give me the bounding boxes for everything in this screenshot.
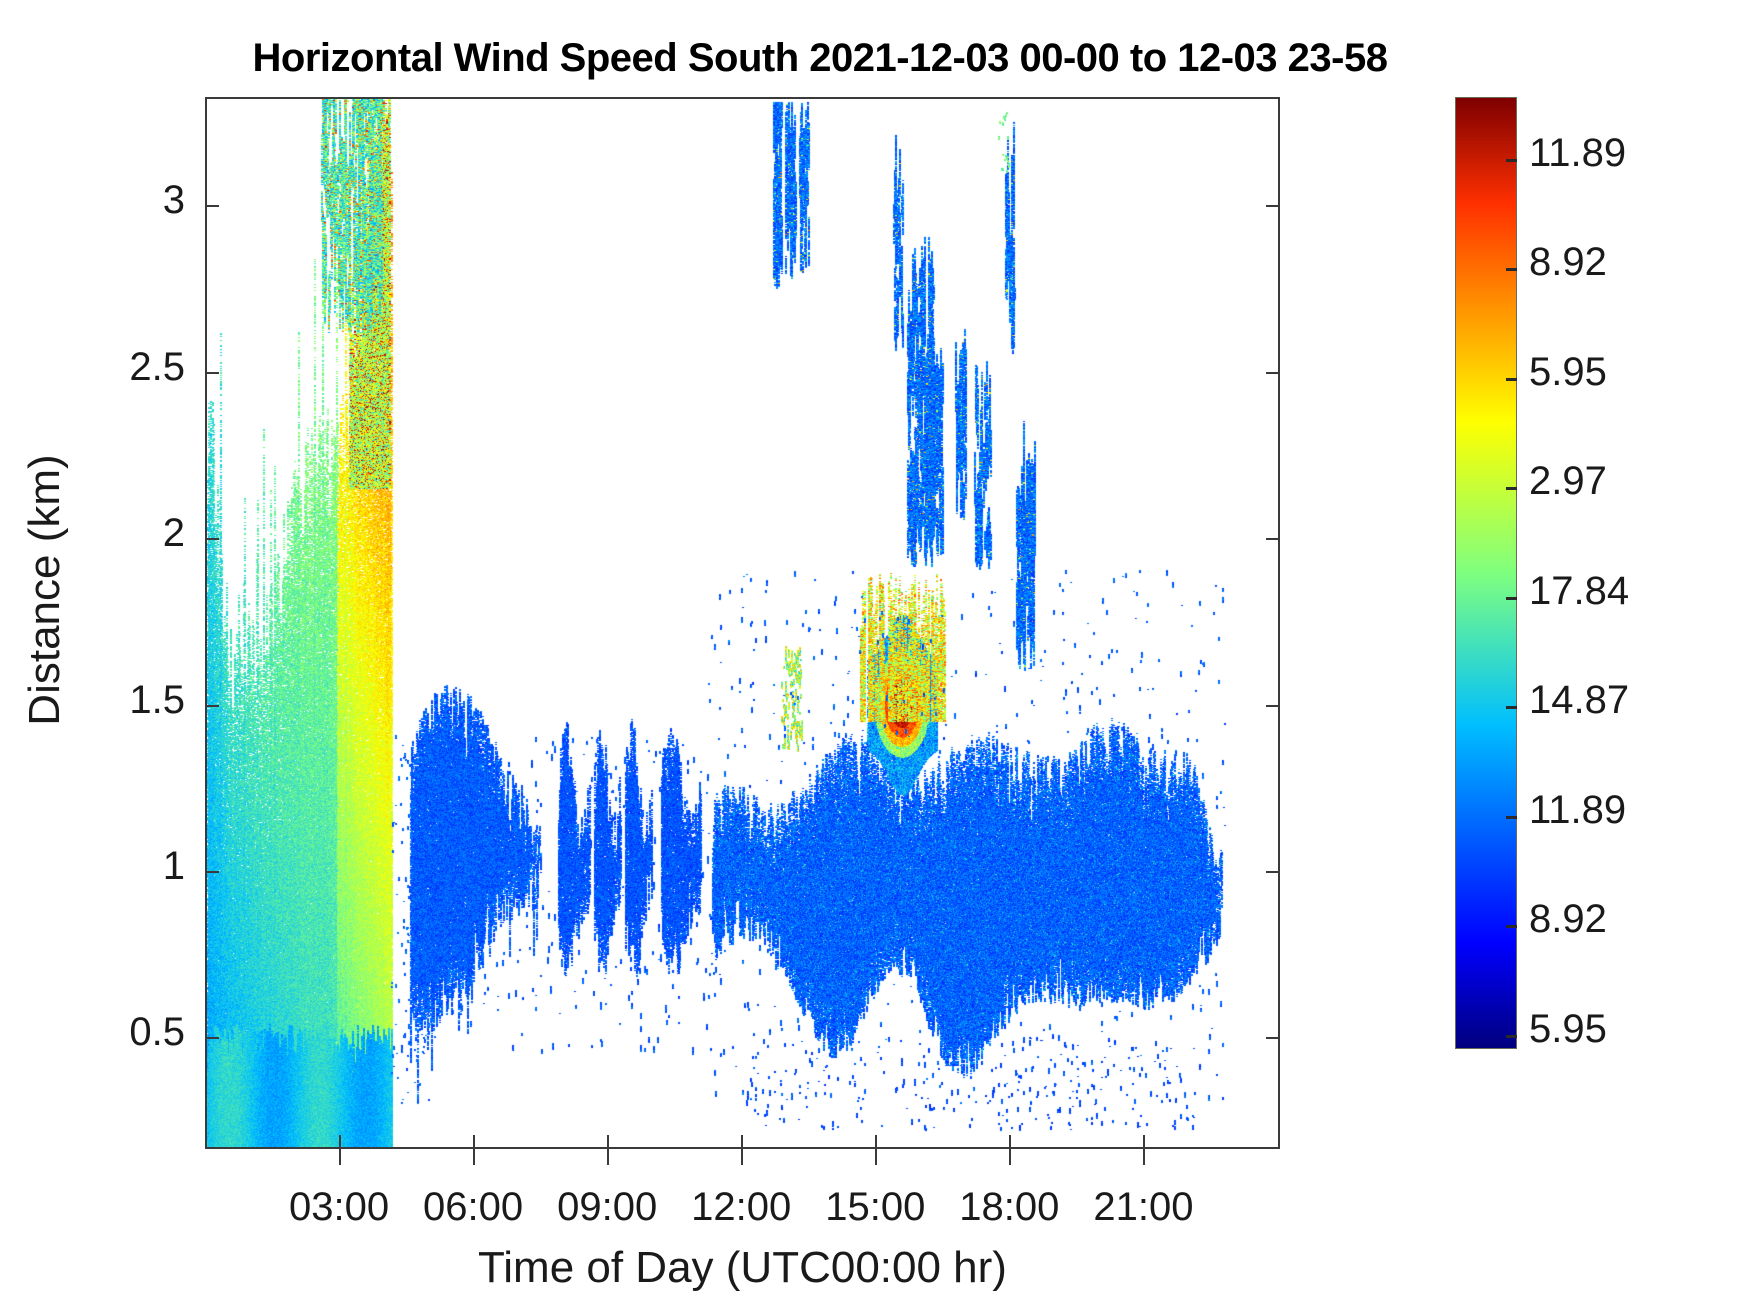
colorbar-tick-label: 5.95 bbox=[1529, 350, 1607, 395]
colorbar-tick-mark bbox=[1506, 378, 1517, 381]
y-tick-mark-right bbox=[1266, 372, 1280, 374]
chart-title: Horizontal Wind Speed South 2021-12-03 0… bbox=[0, 36, 1640, 81]
colorbar-tick-label: 8.92 bbox=[1529, 897, 1607, 942]
colorbar-tick-mark bbox=[1506, 159, 1517, 162]
colorbar-tick-mark bbox=[1506, 706, 1517, 709]
x-tick-mark bbox=[1143, 1135, 1145, 1149]
y-tick-mark bbox=[205, 372, 219, 374]
x-tick-mark bbox=[473, 1135, 475, 1149]
x-tick-mark bbox=[339, 1135, 341, 1149]
y-tick-mark-right bbox=[1266, 705, 1280, 707]
y-tick-mark-right bbox=[1266, 538, 1280, 540]
y-tick-mark-right bbox=[1266, 1037, 1280, 1039]
colorbar-gradient bbox=[1455, 97, 1517, 1049]
colorbar-tick-label: 2.97 bbox=[1529, 459, 1607, 504]
colorbar-tick-mark bbox=[1506, 487, 1517, 490]
y-tick-label: 3 bbox=[15, 178, 185, 223]
x-axis-label: Time of Day (UTC00:00 hr) bbox=[205, 1243, 1280, 1293]
colorbar-tick-label: 14.87 bbox=[1529, 678, 1629, 723]
colorbar-tick-label: 11.89 bbox=[1529, 131, 1626, 176]
x-tick-mark-outer bbox=[473, 1149, 475, 1165]
x-tick-mark bbox=[1009, 1135, 1011, 1149]
x-tick-mark-outer bbox=[607, 1149, 609, 1165]
heatmap-canvas bbox=[207, 99, 1278, 1147]
y-tick-mark bbox=[205, 1037, 219, 1039]
y-tick-mark-right bbox=[1266, 205, 1280, 207]
x-tick-mark-outer bbox=[1143, 1149, 1145, 1165]
colorbar-tick-mark bbox=[1506, 816, 1517, 819]
y-tick-mark-right bbox=[1266, 871, 1280, 873]
y-tick-mark bbox=[205, 705, 219, 707]
x-tick-mark bbox=[607, 1135, 609, 1149]
colorbar-tick-label: 11.89 bbox=[1529, 788, 1626, 833]
y-tick-mark bbox=[205, 871, 219, 873]
colorbar-tick-label: 8.92 bbox=[1529, 240, 1607, 285]
x-tick-mark bbox=[875, 1135, 877, 1149]
colorbar-tick-mark bbox=[1506, 597, 1517, 600]
y-axis-label: Distance (km) bbox=[20, 280, 70, 900]
x-tick-mark-outer bbox=[875, 1149, 877, 1165]
colorbar-tick-label: 5.95 bbox=[1529, 1007, 1607, 1052]
chart-root: Horizontal Wind Speed South 2021-12-03 0… bbox=[0, 0, 1750, 1313]
x-tick-mark-outer bbox=[339, 1149, 341, 1165]
colorbar-tick-mark bbox=[1506, 268, 1517, 271]
x-tick-mark bbox=[741, 1135, 743, 1149]
x-tick-label: 21:00 bbox=[1043, 1185, 1243, 1230]
colorbar-tick-mark bbox=[1506, 925, 1517, 928]
colorbar-tick-mark bbox=[1506, 1035, 1517, 1038]
colorbar-tick-label: 17.84 bbox=[1529, 569, 1629, 614]
x-tick-mark-outer bbox=[1009, 1149, 1011, 1165]
colorbar bbox=[1455, 97, 1517, 1049]
y-tick-mark bbox=[205, 538, 219, 540]
y-tick-label: 0.5 bbox=[15, 1010, 185, 1055]
plot-area bbox=[205, 97, 1280, 1149]
x-tick-mark-outer bbox=[741, 1149, 743, 1165]
y-tick-mark bbox=[205, 205, 219, 207]
